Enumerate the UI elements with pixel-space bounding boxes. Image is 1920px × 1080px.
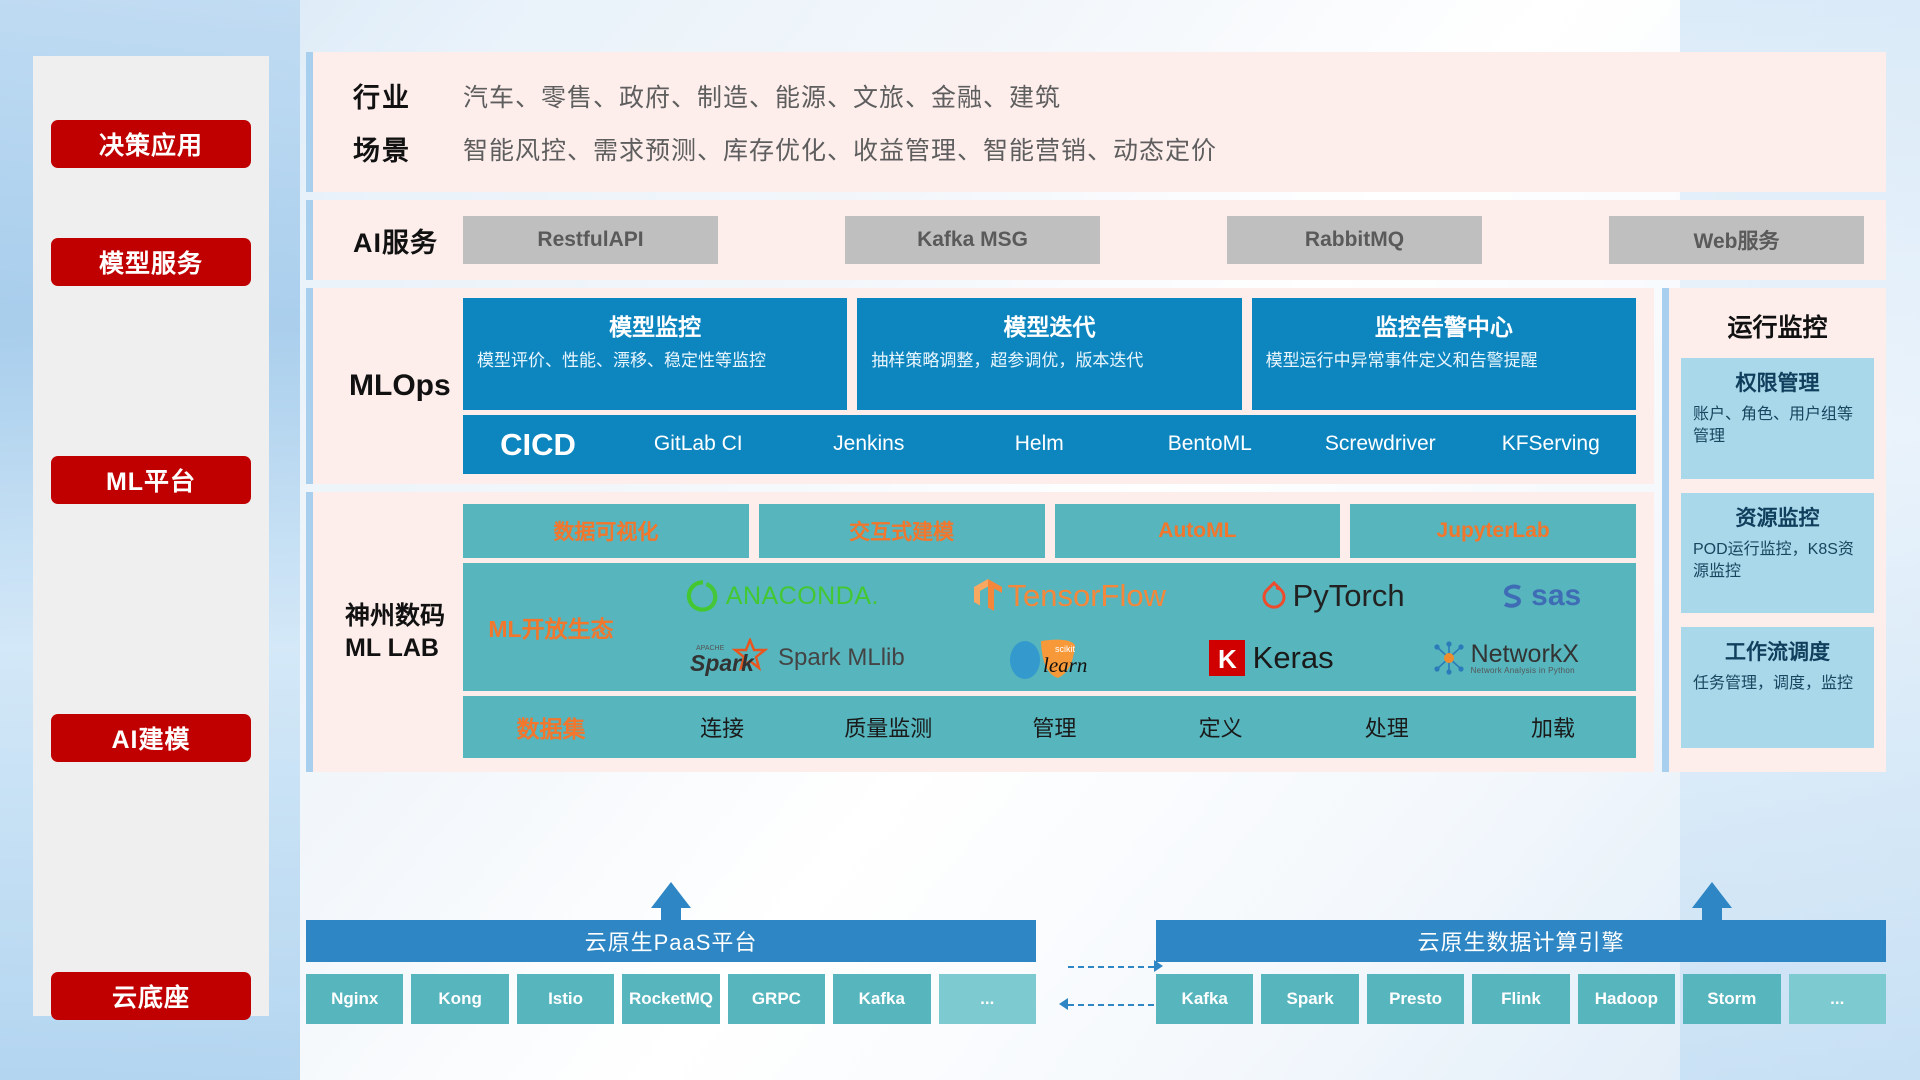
svg-text:learn: learn [1043, 653, 1087, 677]
rail-item-cloud-base[interactable]: 云底座 [51, 972, 251, 1020]
cloud-compute-column: 云原生数据计算引擎 Kafka Spark Presto Flink Hadoo… [1156, 920, 1886, 1024]
monitor-card-title: 工作流调度 [1693, 636, 1862, 666]
platform-split: MLOps 模型监控 模型评价、性能、漂移、稳定性等监控 模型迭代 抽样策略调整… [306, 288, 1886, 780]
keras-logo: K Keras [1209, 640, 1334, 676]
pytorch-icon [1260, 579, 1288, 613]
sas-icon [1498, 581, 1528, 611]
rail-item-ai-modeling[interactable]: AI建模 [51, 714, 251, 762]
mlops-card[interactable]: 模型监控 模型评价、性能、漂移、稳定性等监控 [463, 298, 847, 410]
ml-tool-list: 数据可视化 交互式建模 AutoML JupyterLab [463, 504, 1636, 558]
cloud-chip-more[interactable]: ... [939, 974, 1036, 1024]
mlops-content: 模型监控 模型评价、性能、漂移、稳定性等监控 模型迭代 抽样策略调整，超参调优，… [463, 298, 1636, 474]
sas-label: sas [1531, 579, 1581, 613]
cloud-chip[interactable]: GRPC [728, 974, 825, 1024]
ai-modeling-band: 神州数码 ML LAB 数据可视化 交互式建模 AutoML JupyterLa… [306, 492, 1654, 772]
mlops-label: MLOps [331, 298, 463, 474]
monitor-card-desc: POD运行监控，K8S资源监控 [1693, 539, 1862, 584]
rail-item-label: 云底座 [112, 978, 190, 1014]
cloud-chip[interactable]: Flink [1472, 974, 1569, 1024]
industry-values: 汽车、零售、政府、制造、能源、文旅、金融、建筑 [463, 78, 1061, 114]
cloud-chip[interactable]: Nginx [306, 974, 403, 1024]
dashed-arrow-left-icon [1059, 998, 1068, 1010]
dashed-line-left [1068, 1004, 1154, 1006]
dataset-item[interactable]: 质量监测 [805, 711, 971, 743]
platform-left: MLOps 模型监控 模型评价、性能、漂移、稳定性等监控 模型迭代 抽样策略调整… [306, 288, 1654, 780]
dashed-line-right [1068, 966, 1154, 968]
networkx-icon [1432, 641, 1466, 675]
scikit-learn-icon: scikit learn [1003, 635, 1111, 681]
platform-right: 运行监控 权限管理 账户、角色、用户组等管理 资源监控 POD运行监控，K8S资… [1662, 288, 1886, 780]
sas-logo: sas [1498, 579, 1581, 613]
rail-item-label: ML平台 [106, 462, 196, 498]
ml-ecosystem-logos: ANACONDA. TensorFlow [639, 567, 1636, 687]
layer-rail: 决策应用 模型服务 ML平台 AI建模 云底座 [33, 56, 269, 1016]
ai-service-box[interactable]: RabbitMQ [1227, 216, 1482, 264]
scikit-learn-logo: scikit learn [1003, 635, 1111, 681]
dataset-item[interactable]: 定义 [1138, 711, 1304, 743]
logo-line-2: APACHE Spark Spark MLlib [639, 629, 1628, 687]
dataset-item[interactable]: 处理 [1304, 711, 1470, 743]
rail-item-decision-apps[interactable]: 决策应用 [51, 120, 251, 168]
cloud-link-arrows [1062, 958, 1162, 1020]
cicd-item-list: GitLab CI Jenkins Helm BentoML Screwdriv… [613, 432, 1636, 456]
spark-mllib-logo: APACHE Spark Spark MLlib [688, 638, 905, 678]
ai-service-box-list: RestfulAPI Kafka MSG RabbitMQ Web服务 [463, 216, 1868, 264]
cloud-chip[interactable]: Kafka [1156, 974, 1253, 1024]
industry-label: 行业 [331, 76, 463, 115]
cloud-chip[interactable]: Spark [1261, 974, 1358, 1024]
keras-label: Keras [1253, 640, 1334, 676]
monitor-card-desc: 账户、角色、用户组等管理 [1693, 404, 1862, 449]
cloud-compute-chip-list: Kafka Spark Presto Flink Hadoop Storm ..… [1156, 974, 1886, 1024]
ml-tool-chip[interactable]: JupyterLab [1350, 504, 1636, 558]
cloud-chip[interactable]: Kafka [833, 974, 930, 1024]
diagram-canvas: 决策应用 模型服务 ML平台 AI建模 云底座 行业 汽车、零售、政府、制造、能… [0, 0, 1920, 1080]
spark-icon: APACHE Spark [688, 638, 774, 678]
monitor-card-resource[interactable]: 资源监控 POD运行监控，K8S资源监控 [1681, 493, 1874, 614]
up-arrow-right-icon [1692, 882, 1732, 908]
ml-lab-label: 神州数码 ML LAB [331, 504, 463, 760]
scenario-row: 场景 智能风控、需求预测、库存优化、收益管理、智能营销、动态定价 [331, 129, 1868, 168]
networkx-tagline: Network Analysis in Python [1471, 667, 1579, 675]
svg-text:K: K [1218, 644, 1237, 674]
tensorflow-icon [973, 578, 1003, 614]
cloud-chip[interactable]: Kong [411, 974, 508, 1024]
cicd-bar: CICD GitLab CI Jenkins Helm BentoML Scre… [463, 415, 1636, 474]
keras-icon: K [1209, 640, 1245, 676]
mlops-card-title: 模型监控 [477, 308, 833, 342]
anaconda-logo: ANACONDA. [686, 579, 879, 613]
cloud-paas-header: 云原生PaaS平台 [306, 920, 1036, 962]
logo-line-1: ANACONDA. TensorFlow [639, 567, 1628, 625]
dataset-item[interactable]: 管理 [971, 711, 1137, 743]
ai-service-band: AI服务 RestfulAPI Kafka MSG RabbitMQ Web服务 [306, 200, 1886, 280]
decision-apps-band: 行业 汽车、零售、政府、制造、能源、文旅、金融、建筑 场景 智能风控、需求预测、… [306, 52, 1886, 192]
rail-item-ml-platform[interactable]: ML平台 [51, 456, 251, 504]
anaconda-icon [686, 579, 720, 613]
cloud-chip[interactable]: Hadoop [1578, 974, 1675, 1024]
upflow-arrows [306, 880, 1886, 920]
runtime-monitor-title: 运行监控 [1681, 308, 1874, 344]
rail-item-label: 决策应用 [99, 126, 203, 162]
scenario-label: 场景 [331, 129, 463, 168]
cicd-item[interactable]: Screwdriver [1295, 432, 1466, 456]
ml-tool-chip[interactable]: 数据可视化 [463, 504, 749, 558]
up-arrow-right-stem [1702, 906, 1722, 920]
mlops-card-desc: 模型运行中异常事件定义和告警提醒 [1266, 350, 1622, 373]
runtime-monitor-panel: 运行监控 权限管理 账户、角色、用户组等管理 资源监控 POD运行监控，K8S资… [1662, 288, 1886, 772]
cicd-item[interactable]: Helm [954, 432, 1125, 456]
main-column: 行业 汽车、零售、政府、制造、能源、文旅、金融、建筑 场景 智能风控、需求预测、… [306, 52, 1886, 780]
mlops-card-desc: 模型评价、性能、漂移、稳定性等监控 [477, 350, 833, 373]
dashed-arrow-right-icon [1154, 960, 1163, 972]
mlops-band: MLOps 模型监控 模型评价、性能、漂移、稳定性等监控 模型迭代 抽样策略调整… [306, 288, 1654, 484]
cloud-paas-column: 云原生PaaS平台 Nginx Kong Istio RocketMQ GRPC… [306, 920, 1036, 1024]
anaconda-label: ANACONDA. [726, 582, 879, 611]
pytorch-label: PyTorch [1293, 578, 1405, 614]
cloud-chip-more[interactable]: ... [1789, 974, 1886, 1024]
monitor-card-workflow[interactable]: 工作流调度 任务管理，调度，监控 [1681, 627, 1874, 748]
networkx-logo: NetworkX Network Analysis in Python [1432, 641, 1579, 675]
ml-tool-chip[interactable]: AutoML [1055, 504, 1341, 558]
rail-item-label: 模型服务 [99, 244, 203, 280]
tensorflow-logo: TensorFlow [973, 578, 1167, 614]
mlops-card-title: 模型迭代 [871, 308, 1227, 342]
dataset-label: 数据集 [463, 710, 639, 744]
rail-item-model-service[interactable]: 模型服务 [51, 238, 251, 286]
ai-service-label: AI服务 [331, 221, 463, 260]
up-arrow-left-stem [661, 906, 681, 920]
monitor-card-desc: 任务管理，调度，监控 [1693, 673, 1862, 695]
cloud-chip[interactable]: Istio [517, 974, 614, 1024]
cloud-compute-header: 云原生数据计算引擎 [1156, 920, 1886, 962]
ml-lab-label-line1: 神州数码 [345, 600, 463, 633]
dataset-row: 数据集 连接 质量监测 管理 定义 处理 加载 [463, 696, 1636, 758]
mlops-card-title: 监控告警中心 [1266, 308, 1622, 342]
dataset-item[interactable]: 连接 [639, 711, 805, 743]
networkx-label: NetworkX [1471, 642, 1579, 667]
ai-service-box[interactable]: Web服务 [1609, 216, 1864, 264]
svg-text:Spark: Spark [690, 650, 755, 676]
rail-item-label: AI建模 [111, 720, 190, 756]
monitor-card-permission[interactable]: 权限管理 账户、角色、用户组等管理 [1681, 358, 1874, 479]
pytorch-logo: PyTorch [1260, 578, 1405, 614]
cloud-paas-chip-list: Nginx Kong Istio RocketMQ GRPC Kafka ... [306, 974, 1036, 1024]
tensorflow-label: TensorFlow [1008, 578, 1167, 614]
cicd-item[interactable]: KFServing [1466, 432, 1637, 456]
monitor-card-title: 资源监控 [1693, 502, 1862, 532]
dataset-item-list: 连接 质量监测 管理 定义 处理 加载 [639, 711, 1636, 743]
ml-tool-chip[interactable]: 交互式建模 [759, 504, 1045, 558]
ml-ecosystem-label: ML开放生态 [463, 610, 639, 644]
ml-ecosystem-row: ML开放生态 ANACONDA. [463, 563, 1636, 691]
ml-lab-label-line2: ML LAB [345, 632, 463, 665]
mlops-card-desc: 抽样策略调整，超参调优，版本迭代 [871, 350, 1227, 373]
mlops-card[interactable]: 监控告警中心 模型运行中异常事件定义和告警提醒 [1252, 298, 1636, 410]
mllib-label: Spark MLlib [778, 644, 905, 672]
mlops-card[interactable]: 模型迭代 抽样策略调整，超参调优，版本迭代 [857, 298, 1241, 410]
monitor-card-title: 权限管理 [1693, 367, 1862, 397]
mlops-card-list: 模型监控 模型评价、性能、漂移、稳定性等监控 模型迭代 抽样策略调整，超参调优，… [463, 298, 1636, 410]
cicd-title: CICD [463, 427, 613, 463]
ml-lab-content: 数据可视化 交互式建模 AutoML JupyterLab ML开放生态 [463, 504, 1636, 760]
cicd-item[interactable]: GitLab CI [613, 432, 784, 456]
cicd-item[interactable]: Jenkins [784, 432, 955, 456]
cloud-chip[interactable]: Presto [1367, 974, 1464, 1024]
ai-service-box[interactable]: RestfulAPI [463, 216, 718, 264]
industry-row: 行业 汽车、零售、政府、制造、能源、文旅、金融、建筑 [331, 76, 1868, 115]
cloud-chip[interactable]: RocketMQ [622, 974, 719, 1024]
cicd-item[interactable]: BentoML [1125, 432, 1296, 456]
dataset-item[interactable]: 加载 [1470, 711, 1636, 743]
cloud-chip[interactable]: Storm [1683, 974, 1780, 1024]
up-arrow-left-icon [651, 882, 691, 908]
ai-service-box[interactable]: Kafka MSG [845, 216, 1100, 264]
scenario-values: 智能风控、需求预测、库存优化、收益管理、智能营销、动态定价 [463, 131, 1217, 167]
